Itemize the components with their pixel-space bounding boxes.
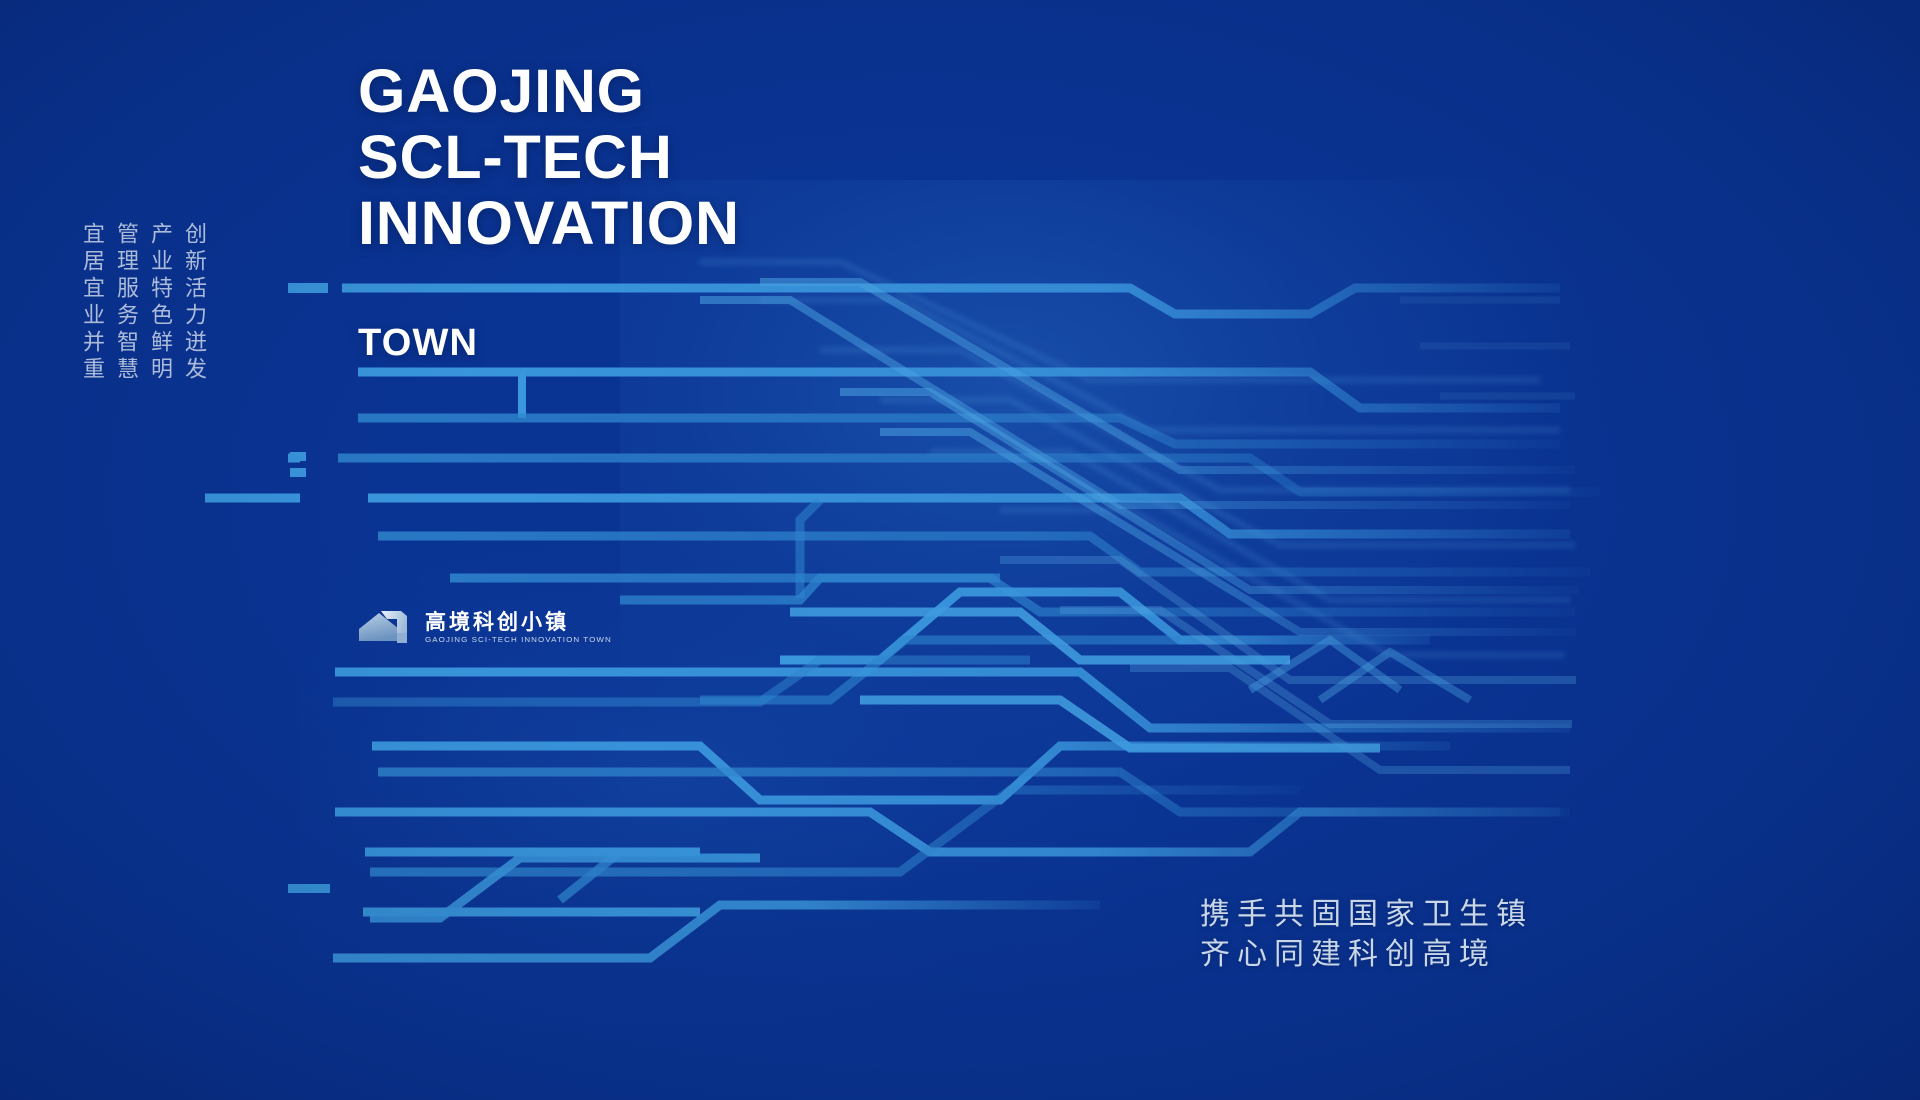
circuit-trace-graphic	[0, 0, 1920, 1100]
poster-canvas: 创新活力迸发 产业特色鲜明 管理服务智慧 宜居宜业并重 GAOJING SCL-…	[0, 0, 1920, 1100]
bottom-slogan: 携手共固国家卫生镇 齐心同建科创高境	[1200, 895, 1533, 975]
vignette-overlay	[0, 0, 1920, 1100]
vertical-slogan-column-2: 产业特色鲜明	[146, 222, 172, 384]
background-glow	[620, 180, 1720, 880]
brand-name-cn: 高境科创小镇	[425, 611, 612, 633]
vertical-slogan: 创新活力迸发 产业特色鲜明 管理服务智慧 宜居宜业并重	[78, 222, 206, 384]
vertical-slogan-column-4: 宜居宜业并重	[78, 222, 104, 384]
page-title: GAOJING SCL-TECH INNOVATION	[358, 58, 740, 256]
vertical-slogan-column-3: 管理服务智慧	[112, 222, 138, 384]
title-line-3: INNOVATION	[358, 190, 740, 256]
bottom-slogan-line-2: 齐心同建科创高境	[1200, 935, 1533, 975]
brand-logo: 高境科创小镇 GAOJING SCI-TECH INNOVATION TOWN	[357, 607, 612, 649]
title-line-4: TOWN	[358, 322, 478, 365]
brand-name-en: GAOJING SCI-TECH INNOVATION TOWN	[425, 635, 612, 644]
bottom-slogan-line-1: 携手共固国家卫生镇	[1200, 895, 1533, 935]
title-line-1: GAOJING	[358, 58, 740, 124]
brand-logo-text: 高境科创小镇 GAOJING SCI-TECH INNOVATION TOWN	[425, 611, 612, 645]
title-line-2: SCL-TECH	[358, 124, 740, 190]
house-roof-mark-icon	[357, 607, 415, 649]
vertical-slogan-column-1: 创新活力迸发	[180, 222, 206, 384]
background-glow-secondary	[300, 520, 1200, 1040]
